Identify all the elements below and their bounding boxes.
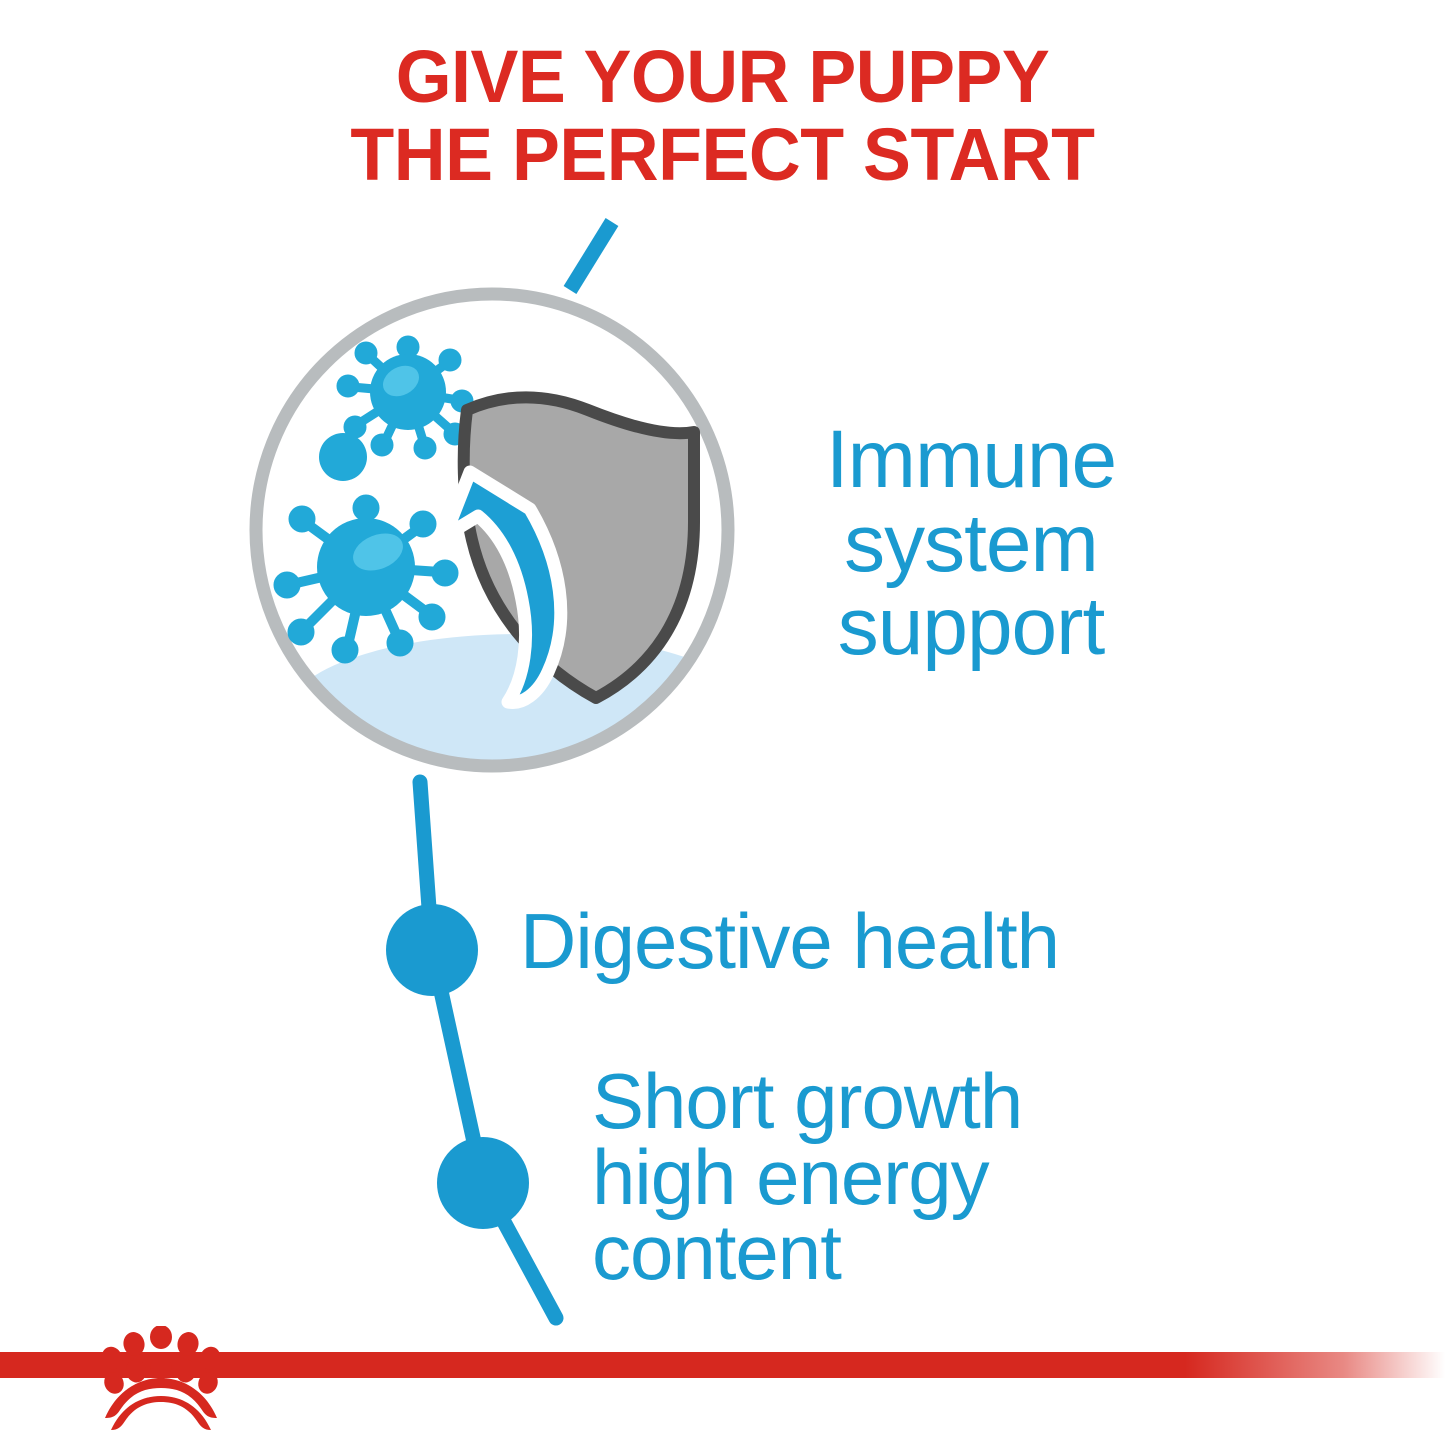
benefit-3-line-3: content <box>592 1215 1022 1291</box>
connector-node-growth <box>437 1137 529 1229</box>
benefit-label-immune-system-support: Immune system support <box>756 418 1186 669</box>
connector-stub-top <box>570 222 612 290</box>
virus-dot-small <box>319 433 367 481</box>
benefit-3-line-1: Short growth <box>592 1064 1022 1140</box>
connector-line <box>420 782 556 1318</box>
benefit-label-digestive-health: Digestive health <box>520 902 1059 982</box>
benefit-3-line-2: high energy <box>592 1140 1022 1216</box>
benefit-2-line-1: Digestive health <box>520 902 1059 982</box>
benefit-1-line-1: Immune <box>756 418 1186 502</box>
benefit-1-line-2: system <box>756 502 1186 586</box>
connector-node-digestive <box>386 904 478 996</box>
benefit-label-short-growth-high-energy-content: Short growth high energy content <box>592 1064 1022 1291</box>
shield-virus-icon <box>256 294 752 790</box>
royal-canin-crown-logo <box>96 1326 226 1434</box>
benefit-1-line-3: support <box>756 585 1186 669</box>
